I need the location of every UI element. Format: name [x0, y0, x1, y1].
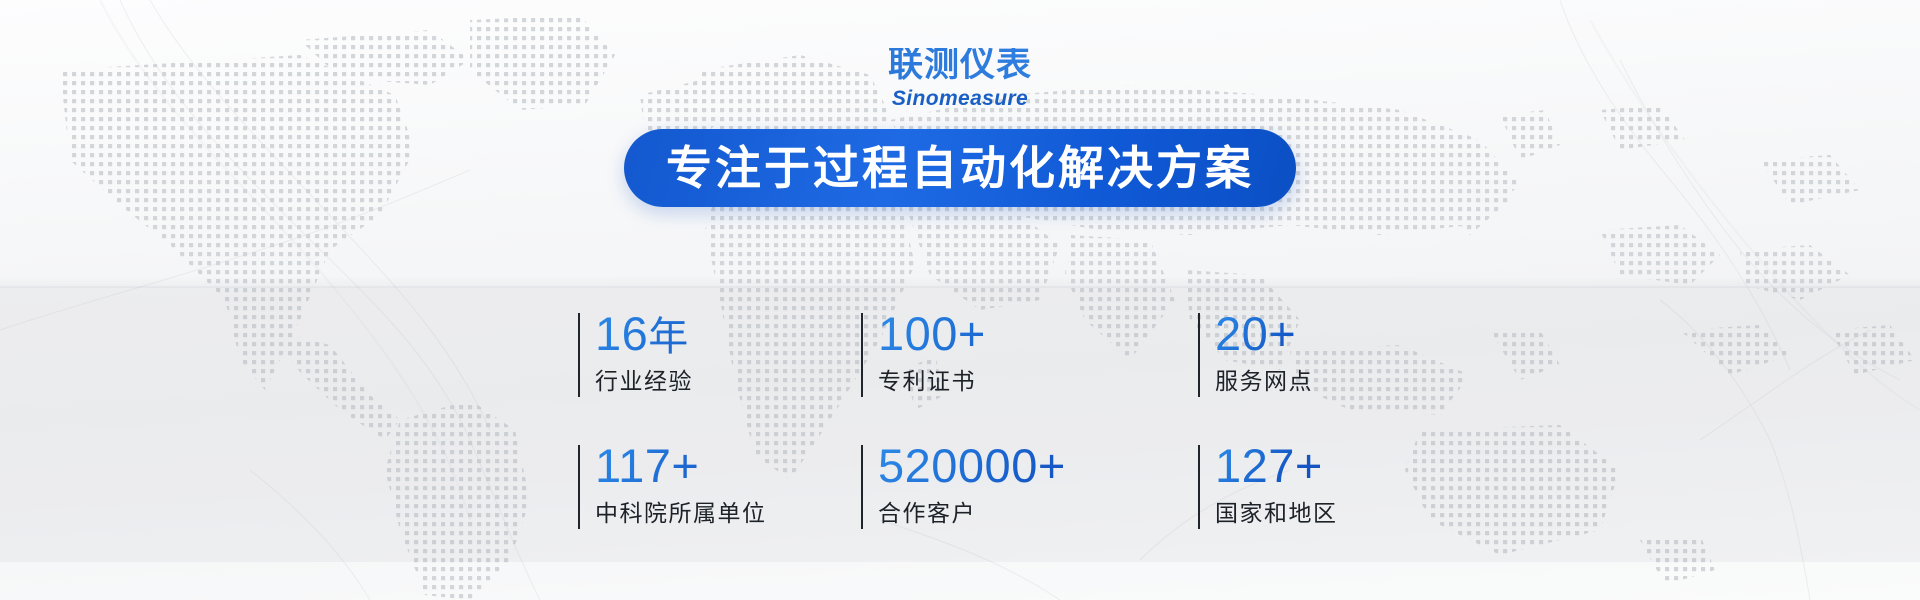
stat-item-customers: 520000+ 合作客户 — [861, 442, 1198, 574]
stat-number: 117+ — [595, 439, 699, 492]
stat-label: 合作客户 — [878, 503, 1198, 526]
logo-chinese-name: 联测仪表 — [0, 48, 1920, 83]
stat-number: 127+ — [1215, 439, 1323, 492]
stat-value: 117+ — [595, 442, 861, 489]
stat-number: 520000+ — [878, 439, 1066, 492]
stat-item-years: 16年 行业经验 — [578, 310, 861, 442]
stat-item-service-points: 20+ 服务网点 — [1198, 310, 1358, 442]
stat-value: 100+ — [878, 310, 1198, 357]
stat-value: 16年 — [595, 310, 861, 357]
stat-label: 国家和地区 — [1215, 503, 1358, 526]
stat-item-patents: 100+ 专利证书 — [861, 310, 1198, 442]
slogan-text: 专注于过程自动化解决方案 — [666, 145, 1254, 191]
company-logo: 联测仪表 Sinomeasure — [0, 48, 1920, 109]
stat-item-cas-units: 117+ 中科院所属单位 — [578, 442, 861, 574]
stat-label: 中科院所属单位 — [595, 503, 861, 526]
stat-item-countries: 127+ 国家和地区 — [1198, 442, 1358, 574]
stat-number: 100+ — [878, 307, 986, 360]
stat-value: 20+ — [1215, 310, 1358, 357]
logo-english-name: Sinomeasure — [0, 88, 1920, 109]
stat-label: 服务网点 — [1215, 371, 1358, 394]
slogan-container: 专注于过程自动化解决方案 — [0, 129, 1920, 207]
stat-value: 520000+ — [878, 442, 1198, 489]
stat-value: 127+ — [1215, 442, 1358, 489]
stat-number: 16 — [595, 307, 648, 360]
slogan-pill: 专注于过程自动化解决方案 — [624, 129, 1296, 207]
stat-label: 行业经验 — [595, 371, 861, 394]
stat-number: 20+ — [1215, 307, 1296, 360]
stat-label: 专利证书 — [878, 371, 1198, 394]
stats-grid: 16年 行业经验 100+ 专利证书 20+ 服务网点 117+ 中科院所属单位… — [578, 310, 1358, 574]
stat-unit: 年 — [648, 314, 689, 360]
promo-banner: 联测仪表 Sinomeasure 专注于过程自动化解决方案 16年 行业经验 1… — [0, 0, 1920, 600]
